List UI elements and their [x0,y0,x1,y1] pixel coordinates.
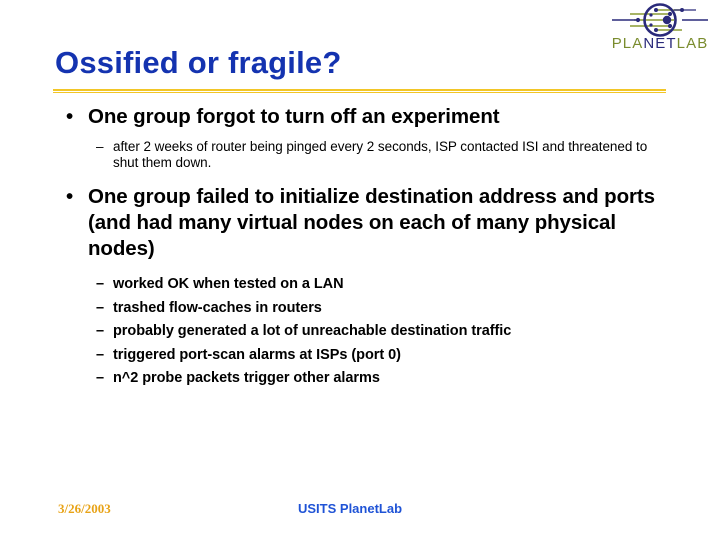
dash-marker-icon: – [96,273,104,297]
dash-marker-icon: – [96,367,104,391]
sub-bullet-item: – worked OK when tested on a LAN [58,273,673,297]
bullet-item: • One group forgot to turn off an experi… [58,104,673,130]
sub-bullet-text: n^2 probe packets trigger other alarms [113,370,380,386]
sub-bullet-text: trashed flow-caches in routers [113,300,322,316]
slide-body: • One group forgot to turn off an experi… [58,104,673,391]
sub-bullet-item: – after 2 weeks of router being pinged e… [58,139,673,171]
slide-canvas: PLANETLAB Ossified or fragile? • One gro… [0,0,719,539]
bullet-text: One group failed to initialize destinati… [88,185,655,260]
sub-bullet-text: worked OK when tested on a LAN [113,276,344,292]
spacer [58,264,673,273]
dash-marker-icon: – [96,344,104,368]
divider-line-bottom [53,92,666,93]
bullet-item: • One group failed to initialize destina… [58,184,673,262]
bullet-text: One group forgot to turn off an experime… [88,105,499,128]
bullet-marker-icon: • [66,104,73,130]
slide-title: Ossified or fragile? [55,44,615,82]
dash-marker-icon: – [96,139,103,155]
planetlab-wordmark: PLANETLAB [604,35,716,53]
dash-marker-icon: – [96,297,104,321]
sub-bullet-item: – probably generated a lot of unreachabl… [58,320,673,344]
wordmark-part-pla: PLA [612,35,644,52]
footer-title: USITS PlanetLab [298,501,402,517]
sub-bullet-item: – triggered port-scan alarms at ISPs (po… [58,344,673,368]
footer-date: 3/26/2003 [58,501,111,517]
sub-bullet-item: – n^2 probe packets trigger other alarms [58,367,673,391]
planetlab-logo: PLANETLAB [604,2,716,56]
bullet-marker-icon: • [66,184,73,210]
wordmark-part-net: NET [643,35,676,52]
sub-bullet-item: – trashed flow-caches in routers [58,297,673,321]
title-divider [53,89,666,93]
dash-marker-icon: – [96,320,104,344]
sub-bullet-text: triggered port-scan alarms at ISPs (port… [113,347,401,363]
planetlab-globe-icon [604,2,716,38]
spacer [58,132,673,139]
sub-bullet-text: after 2 weeks of router being pinged eve… [113,139,647,170]
spacer [58,171,673,184]
sub-bullet-text: probably generated a lot of unreachable … [113,323,511,339]
wordmark-part-lab: LAB [677,35,709,52]
